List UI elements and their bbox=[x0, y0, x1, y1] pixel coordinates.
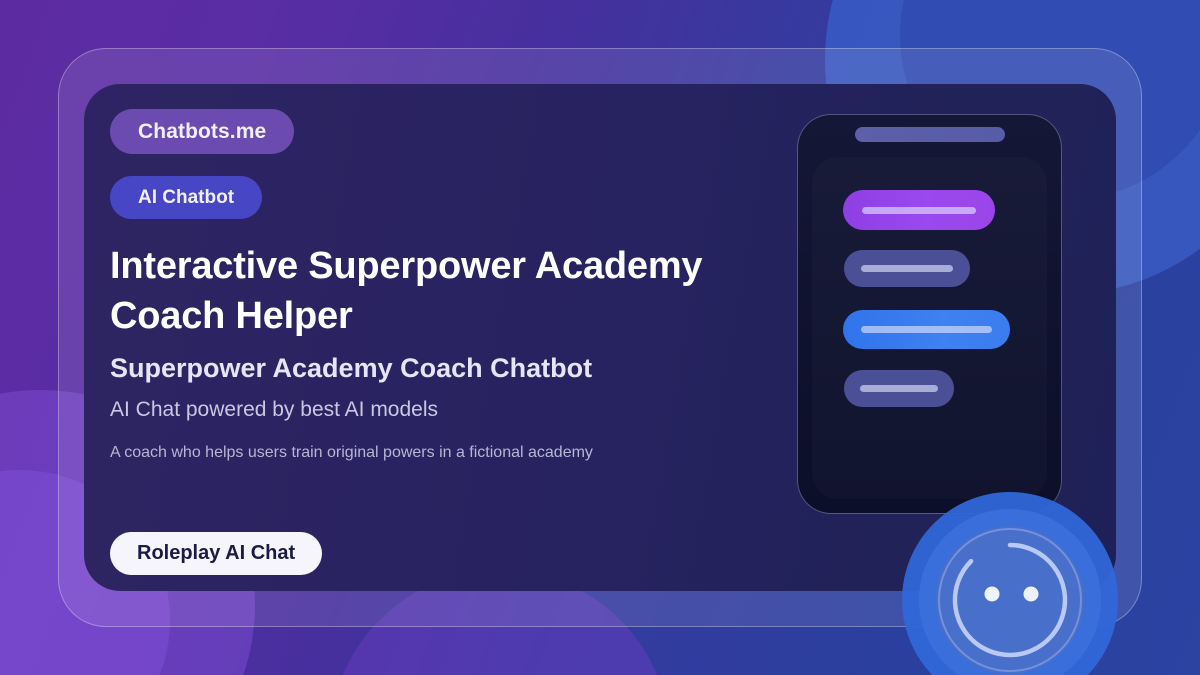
chat-bubble-text-line bbox=[860, 385, 938, 392]
page-title: Interactive Superpower Academy Coach Hel… bbox=[110, 242, 730, 342]
chat-bubble-purple[interactable] bbox=[843, 190, 995, 230]
card-content: Chatbots.me AI Chatbot Interactive Super… bbox=[110, 84, 800, 591]
promo-banner: Chatbots.me AI Chatbot Interactive Super… bbox=[0, 0, 1200, 675]
avatar[interactable] bbox=[902, 492, 1118, 675]
subtitle: Superpower Academy Coach Chatbot bbox=[110, 352, 770, 384]
type-badge-label: AI Chatbot bbox=[138, 187, 234, 209]
tagline: AI Chat powered by best AI models bbox=[110, 398, 438, 422]
chat-bubble-text-line bbox=[861, 326, 992, 333]
smiley-face-icon bbox=[936, 526, 1084, 674]
chat-bubble-text-line bbox=[862, 207, 976, 214]
phone-mockup bbox=[797, 114, 1062, 514]
chat-bubble-muted-2[interactable] bbox=[844, 370, 954, 407]
phone-header-bar bbox=[855, 127, 1005, 142]
description: A coach who helps users train original p… bbox=[110, 444, 750, 462]
type-badge[interactable]: AI Chatbot bbox=[110, 176, 262, 219]
chat-bubble-blue[interactable] bbox=[843, 310, 1010, 349]
roleplay-ai-chat-button[interactable]: Roleplay AI Chat bbox=[110, 532, 322, 575]
brand-badge-label: Chatbots.me bbox=[138, 120, 266, 144]
brand-badge[interactable]: Chatbots.me bbox=[110, 109, 294, 154]
promo-card: Chatbots.me AI Chatbot Interactive Super… bbox=[84, 84, 1116, 591]
chat-bubble-text-line bbox=[861, 265, 953, 272]
chat-bubble-muted-1[interactable] bbox=[844, 250, 970, 287]
